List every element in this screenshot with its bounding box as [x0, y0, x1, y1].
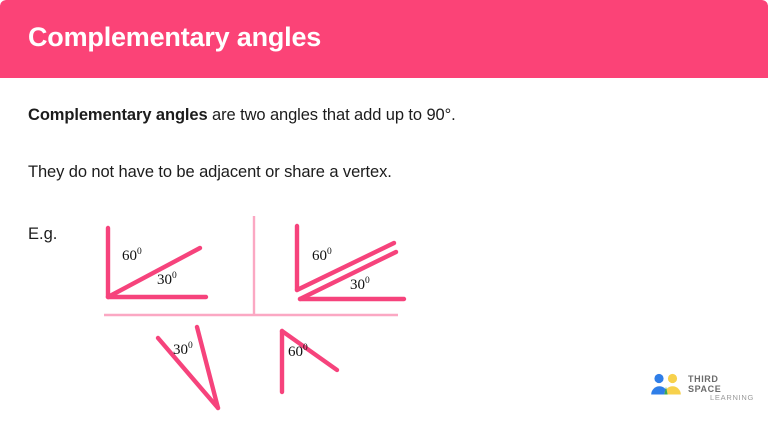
angle-value: 30	[157, 272, 172, 288]
angle-label-tr-60: 600	[312, 248, 332, 265]
angle-value: 30	[350, 277, 365, 293]
angle-figure-bottom-right	[282, 331, 337, 392]
angle-value: 60	[312, 248, 327, 264]
angle-value: 30	[173, 342, 188, 358]
angle-value: 60	[122, 248, 137, 264]
angle-label-bl-30: 300	[173, 342, 193, 359]
angle-value: 60	[288, 344, 303, 360]
brand-name-line-2: LEARNING	[688, 394, 754, 402]
angle-degree-mark: 0	[188, 341, 193, 351]
angle-label-br-60: 600	[288, 344, 308, 361]
logo-head-yellow-icon	[668, 374, 677, 383]
page-title: Complementary angles	[28, 22, 321, 53]
brand-logo: THIRD SPACE LEARNING	[650, 372, 754, 402]
brand-logo-text: THIRD SPACE LEARNING	[688, 374, 754, 403]
note-line: They do not have to be adjacent or share…	[28, 163, 392, 182]
angle-degree-mark: 0	[365, 276, 370, 286]
angle-label-tl-30: 300	[157, 272, 177, 289]
definition-line: Complementary angles are two angles that…	[28, 106, 456, 125]
angle-label-tr-30: 300	[350, 277, 370, 294]
ray-right-bl	[197, 327, 218, 408]
logo-head-blue-icon	[654, 374, 663, 383]
header-bar: Complementary angles	[0, 0, 768, 78]
angle-degree-mark: 0	[303, 343, 308, 353]
angle-degree-mark: 0	[172, 271, 177, 281]
brand-name-line-1: THIRD SPACE	[688, 374, 754, 394]
angle-degree-mark: 0	[327, 247, 332, 257]
brand-logo-mark	[650, 372, 682, 398]
example-label: E.g.	[28, 225, 57, 244]
angle-degree-mark: 0	[137, 247, 142, 257]
slide-container: Complementary angles Complementary angle…	[0, 0, 768, 435]
definition-rest: are two angles that add up to 90°.	[208, 106, 456, 124]
angle-label-tl-60: 600	[122, 248, 142, 265]
definition-term: Complementary angles	[28, 106, 208, 124]
angle-figure-bottom-left	[158, 327, 218, 408]
